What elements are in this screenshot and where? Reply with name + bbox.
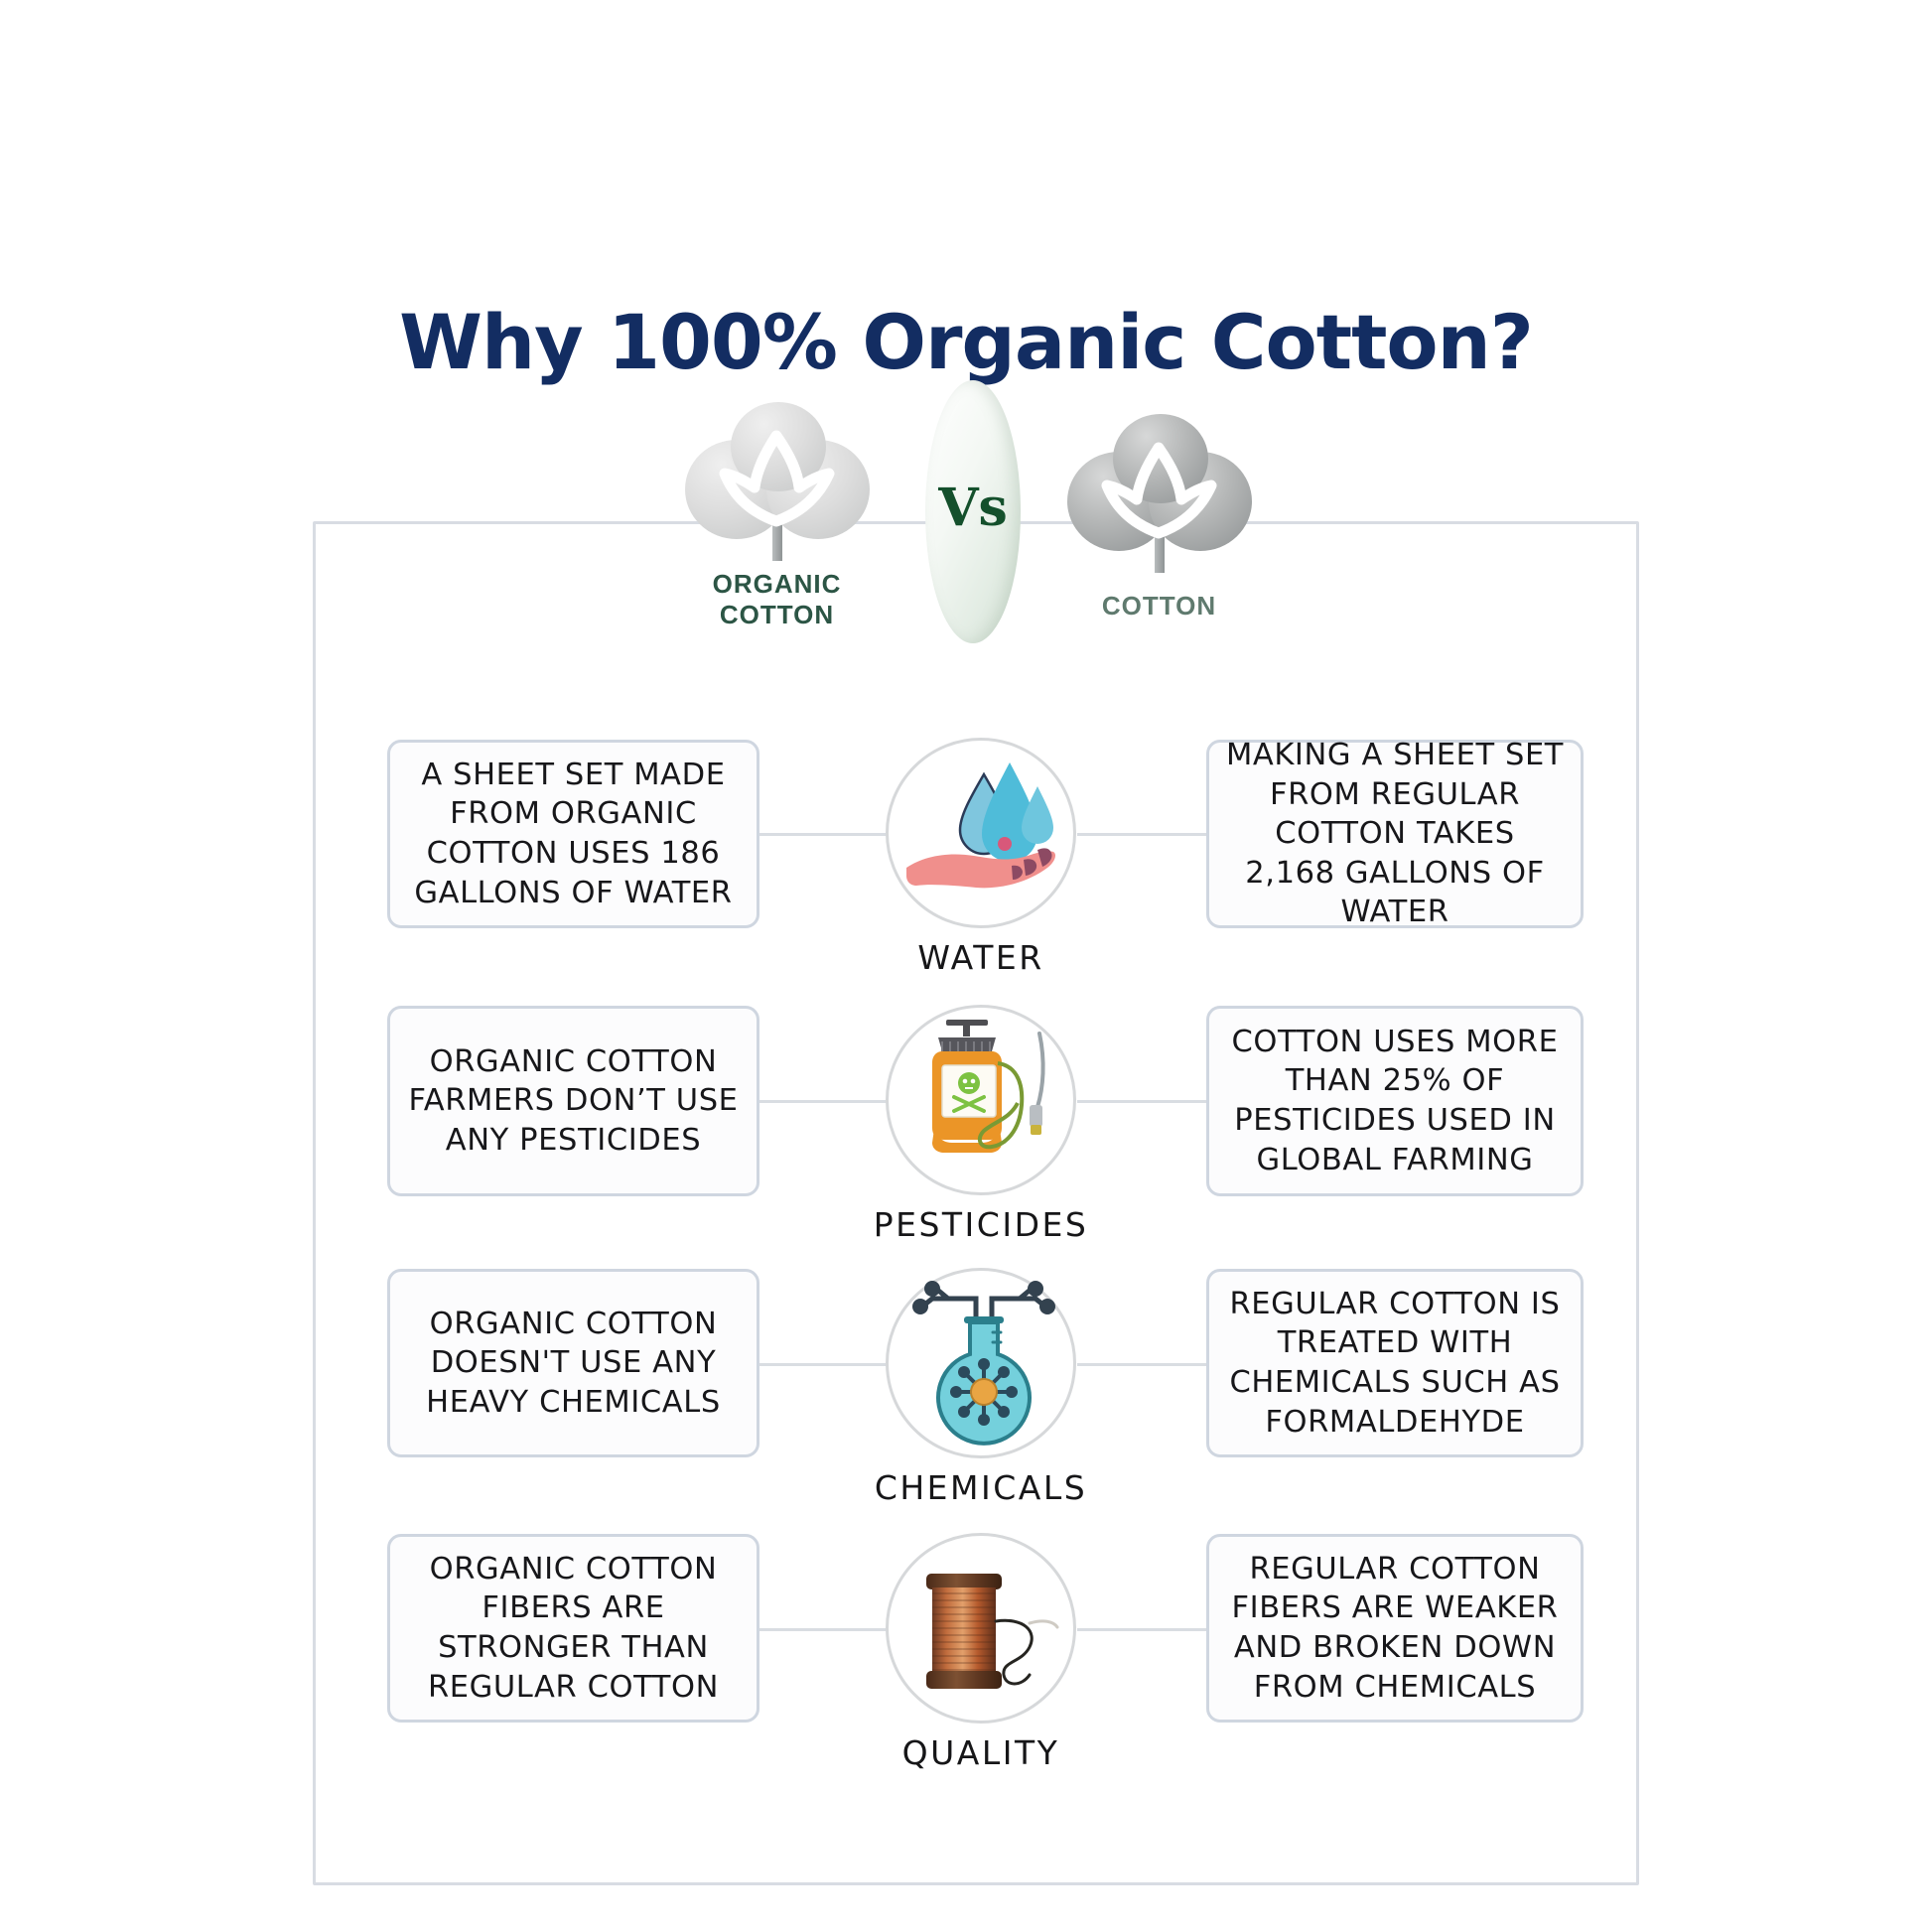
- water-hand-droplets-icon: [886, 738, 1076, 928]
- organic-fact-box: A SHEET SET MADE FROM ORGANIC COTTON USE…: [387, 740, 759, 928]
- organic-fact-box: ORGANIC COTTON DOESN'T USE ANY HEAVY CHE…: [387, 1269, 759, 1457]
- category-chemicals: CHEMICALS: [832, 1268, 1130, 1507]
- regular-cotton-emblem: COTTON: [1067, 414, 1251, 558]
- category-label: WATER: [832, 938, 1130, 977]
- organic-fact-box: ORGANIC COTTON FARMERS DON’T USE ANY PES…: [387, 1006, 759, 1196]
- regular-cotton-label: COTTON: [1067, 591, 1251, 621]
- category-label: CHEMICALS: [832, 1468, 1130, 1507]
- category-label: QUALITY: [832, 1733, 1130, 1772]
- cotton-boll-icon: [1067, 414, 1251, 558]
- regular-fact-box: MAKING A SHEET SET FROM REGULAR COTTON T…: [1206, 740, 1584, 928]
- category-pesticides: PESTICIDES: [832, 1005, 1130, 1244]
- page-title: Why 100% Organic Cotton?: [0, 298, 1932, 386]
- organic-label-line1: ORGANIC: [713, 569, 842, 599]
- comparison-header: ORGANIC COTTON Vs COTTON: [685, 402, 1251, 665]
- category-label: PESTICIDES: [832, 1205, 1130, 1244]
- organic-cotton-label: ORGANIC COTTON: [685, 569, 869, 629]
- cotton-boll-icon: [685, 402, 869, 546]
- regular-fact-box: COTTON USES MORE THAN 25% OF PESTICIDES …: [1206, 1006, 1584, 1196]
- organic-fact-box: ORGANIC COTTON FIBERS ARE STRONGER THAN …: [387, 1534, 759, 1723]
- thread-spool-icon: [886, 1533, 1076, 1724]
- organic-label-line2: COTTON: [720, 600, 834, 629]
- versus-text: Vs: [925, 478, 1021, 538]
- category-quality: QUALITY: [832, 1533, 1130, 1772]
- regular-fact-box: REGULAR COTTON IS TREATED WITH CHEMICALS…: [1206, 1269, 1584, 1457]
- category-water: WATER: [832, 738, 1130, 977]
- versus-badge: Vs: [925, 380, 1021, 643]
- pesticide-sprayer-icon: [886, 1005, 1076, 1195]
- boll-leaf-cutout: [685, 402, 869, 546]
- chemistry-flask-molecule-icon: [886, 1268, 1076, 1458]
- boll-leaf-cutout: [1067, 414, 1251, 558]
- regular-label-line1: COTTON: [1102, 591, 1216, 621]
- regular-fact-box: REGULAR COTTON FIBERS ARE WEAKER AND BRO…: [1206, 1534, 1584, 1723]
- infographic-canvas: Why 100% Organic Cotton? ORGANIC COTTON …: [0, 0, 1932, 1932]
- organic-cotton-emblem: ORGANIC COTTON: [685, 402, 869, 546]
